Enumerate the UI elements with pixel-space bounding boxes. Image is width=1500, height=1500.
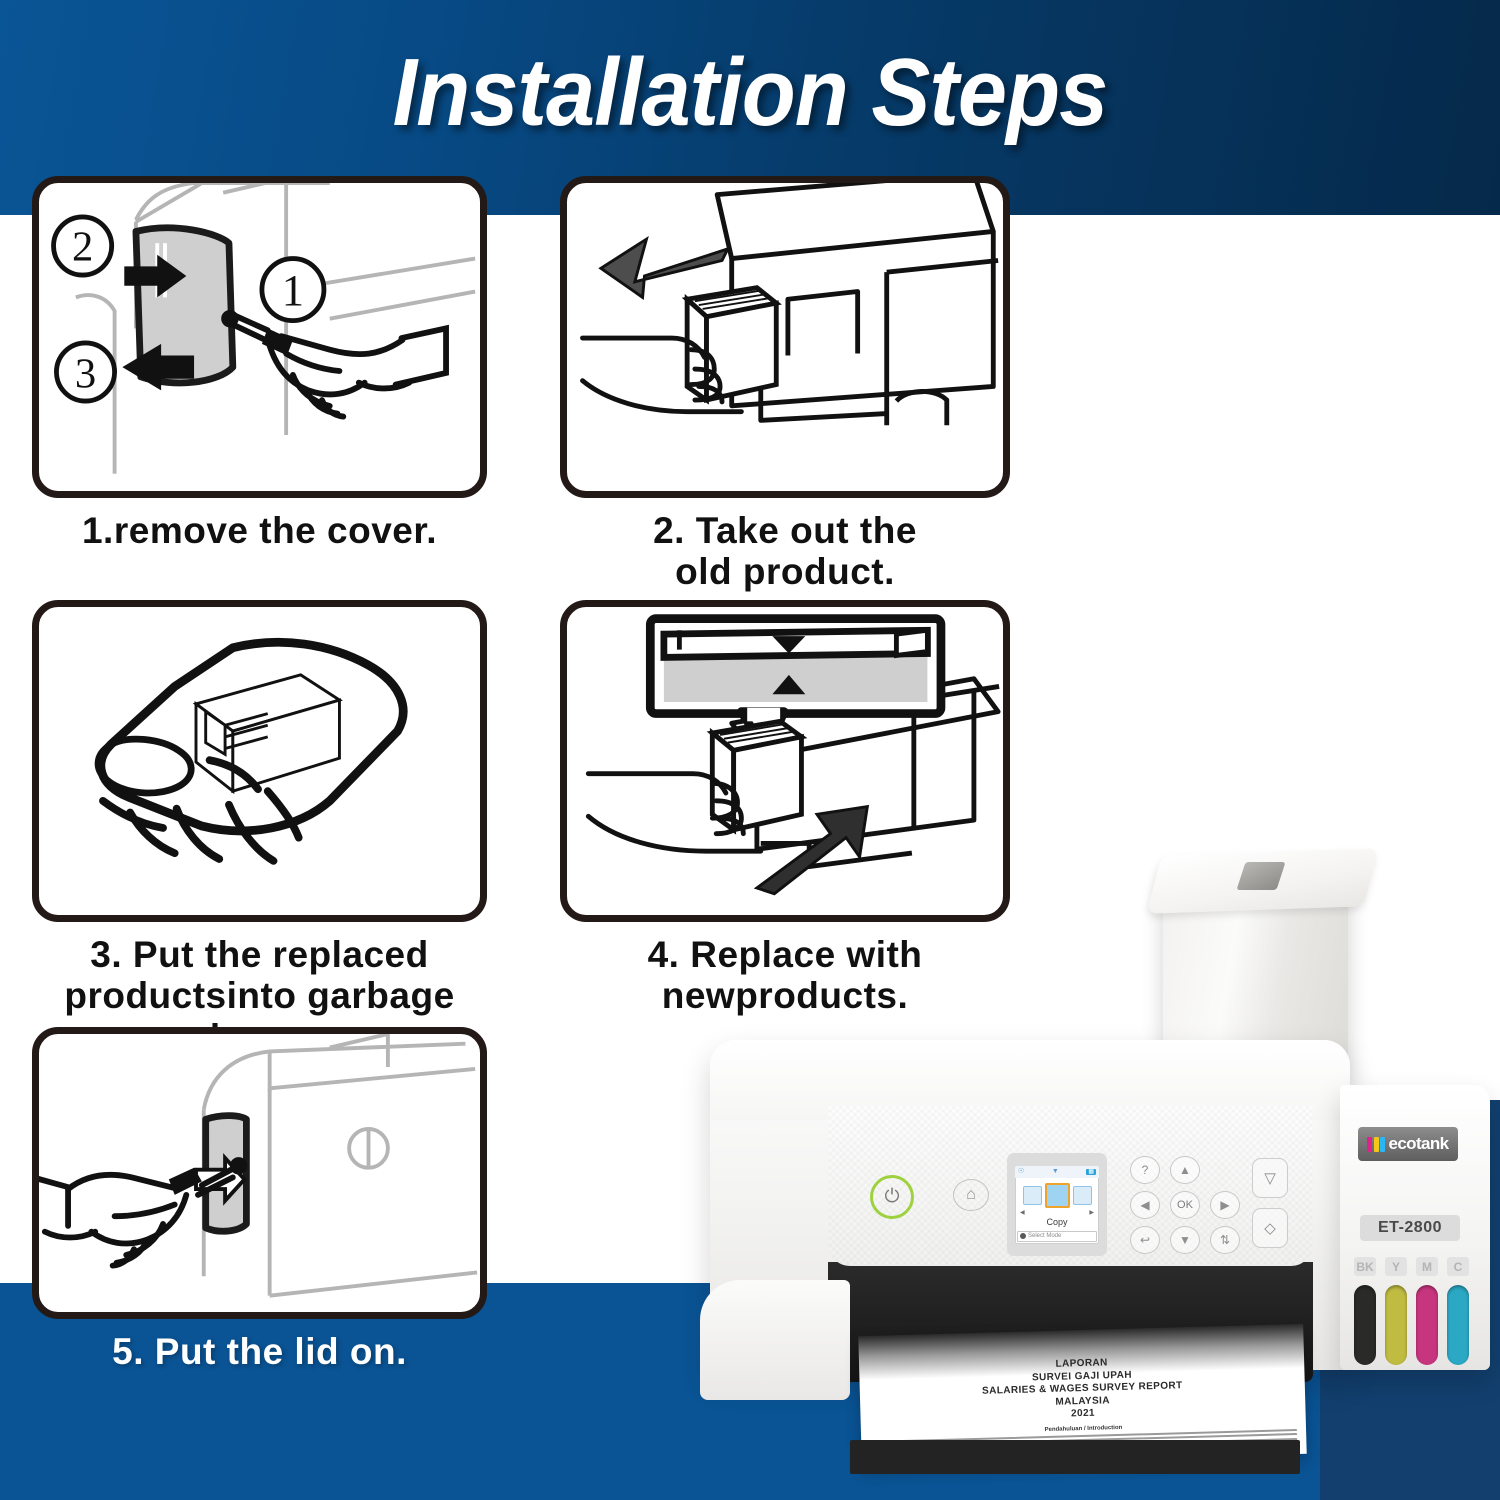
ink-tank-y: [1385, 1285, 1407, 1365]
ink-label-y: Y: [1385, 1257, 1407, 1276]
power-icon: ⏻: [884, 1186, 899, 1208]
alignment-detail: [664, 630, 928, 702]
lcd-footer-label: Select Mode: [1028, 1233, 1061, 1239]
up-button[interactable]: ▲: [1170, 1156, 1200, 1184]
chevron-right-icon: ▶: [1220, 1198, 1229, 1212]
ink-tanks: [1354, 1285, 1480, 1365]
lcd-status-bar: ☉ ▼ ▦: [1015, 1166, 1099, 1178]
lcd-bezel: ☉ ▼ ▦ ◀ ▶ Copy Select Mode: [1007, 1153, 1107, 1256]
ecotank-badge: ecotank: [1358, 1127, 1458, 1161]
navigation-keypad: ? ▲ ◀ OK ▶ ↩ ▼ ⇅: [1130, 1156, 1240, 1256]
step-3-illustration-frame: [32, 600, 487, 922]
printer-left-foot: [700, 1280, 850, 1400]
ink-tank-bk: [1354, 1285, 1376, 1365]
start-button[interactable]: ◇: [1252, 1208, 1288, 1248]
callout-1: 1: [262, 259, 324, 321]
step-1: 2 1 3: [32, 176, 487, 551]
step-5: 5. Put the lid on.: [32, 1027, 487, 1372]
svg-text:2: 2: [72, 224, 93, 271]
right-button[interactable]: ▶: [1210, 1191, 1240, 1219]
ecotank-label: ecotank: [1388, 1134, 1448, 1154]
back-arrow-icon: ↩: [1140, 1233, 1150, 1247]
ink-label-c: C: [1447, 1257, 1469, 1276]
two-sided-button[interactable]: ⇅: [1210, 1226, 1240, 1254]
lcd-mode-icons: [1015, 1183, 1099, 1208]
lcd-footer: Select Mode: [1017, 1231, 1097, 1242]
lcd-right-arrow-icon: ▶: [1089, 1209, 1094, 1216]
ok-button[interactable]: OK: [1170, 1191, 1200, 1219]
chevron-left-icon: ◀: [1140, 1198, 1149, 1212]
ink-level-icon: ▦: [1086, 1169, 1096, 1175]
select-mode-dot-icon: [1020, 1233, 1026, 1239]
step-3: 3. Put the replaced productsinto garbage…: [32, 600, 487, 1058]
ink-tank-m: [1416, 1285, 1438, 1365]
ink-bottles-icon: [1367, 1137, 1385, 1152]
down-button[interactable]: ▼: [1170, 1226, 1200, 1254]
left-button[interactable]: ◀: [1130, 1191, 1160, 1219]
refresh-icon: ⇅: [1220, 1233, 1230, 1247]
chevron-up-icon: ▲: [1179, 1163, 1191, 1177]
lcd-screen[interactable]: ☉ ▼ ▦ ◀ ▶ Copy Select Mode: [1015, 1166, 1099, 1244]
lcd-mode-label: Copy: [1015, 1217, 1099, 1227]
start-icon: ◇: [1264, 1219, 1276, 1237]
chevron-down-icon: ▼: [1179, 1233, 1191, 1247]
home-icon: ⌂: [966, 1186, 976, 1204]
step-2-caption: 2. Take out the old product.: [560, 510, 1010, 593]
power-button[interactable]: ⏻: [870, 1175, 914, 1219]
dispose-in-garbage-bag-artwork: [39, 607, 480, 919]
page-title: Installation Steps: [60, 38, 1440, 148]
stop-button[interactable]: ▽: [1252, 1158, 1288, 1198]
ink-labels: BK Y M C: [1354, 1257, 1480, 1276]
ink-tank-c: [1447, 1285, 1469, 1365]
step-2: 2. Take out the old product.: [560, 176, 1010, 593]
help-button[interactable]: ?: [1130, 1156, 1160, 1184]
scan-mode-icon[interactable]: [1023, 1186, 1042, 1205]
step-5-caption: 5. Put the lid on.: [32, 1331, 487, 1372]
back-button[interactable]: ↩: [1130, 1226, 1160, 1254]
copy-mode-icon[interactable]: [1045, 1183, 1070, 1208]
svg-text:3: 3: [75, 350, 96, 397]
printer-product-photo: ⏻ ⌂ ☉ ▼ ▦ ◀ ▶ Copy: [700, 810, 1500, 1500]
ink-label-bk: BK: [1354, 1257, 1376, 1276]
ink-tank-unit: ecotank ET-2800 BK Y M C: [1340, 1085, 1490, 1370]
put-lid-on-artwork: [39, 1034, 480, 1317]
network-off-icon: ☉: [1018, 1168, 1024, 1175]
stop-icon: ▽: [1264, 1169, 1276, 1187]
lcd-left-arrow-icon: ◀: [1020, 1209, 1025, 1216]
callout-2: 2: [54, 217, 112, 275]
poster-canvas: Installation Steps 2: [0, 0, 1500, 1500]
printer-side-cover-removal-artwork: 2 1 3: [39, 183, 480, 495]
wifi-icon: ▼: [1052, 1168, 1059, 1175]
help-icon: ?: [1142, 1163, 1149, 1177]
step-1-caption: 1.remove the cover.: [32, 510, 487, 551]
maintenance-mode-icon[interactable]: [1073, 1186, 1092, 1205]
ink-label-m: M: [1416, 1257, 1438, 1276]
svg-text:1: 1: [282, 265, 304, 315]
page-title-block: LAPORAN SURVEI GAJI UPAH SALARIES & WAGE…: [859, 1352, 1306, 1427]
screwdriver-and-hand: [224, 313, 446, 417]
output-tray: [850, 1440, 1300, 1474]
home-button[interactable]: ⌂: [953, 1179, 989, 1211]
ok-label: OK: [1177, 1199, 1193, 1211]
step-2-illustration-frame: [560, 176, 1010, 498]
step-1-illustration-frame: 2 1 3: [32, 176, 487, 498]
model-badge: ET-2800: [1360, 1215, 1460, 1241]
step-5-illustration-frame: [32, 1027, 487, 1319]
callout-3: 3: [56, 343, 114, 401]
lcd-arrows: ◀ ▶: [1015, 1209, 1099, 1216]
remove-old-product-artwork: [567, 183, 1003, 495]
